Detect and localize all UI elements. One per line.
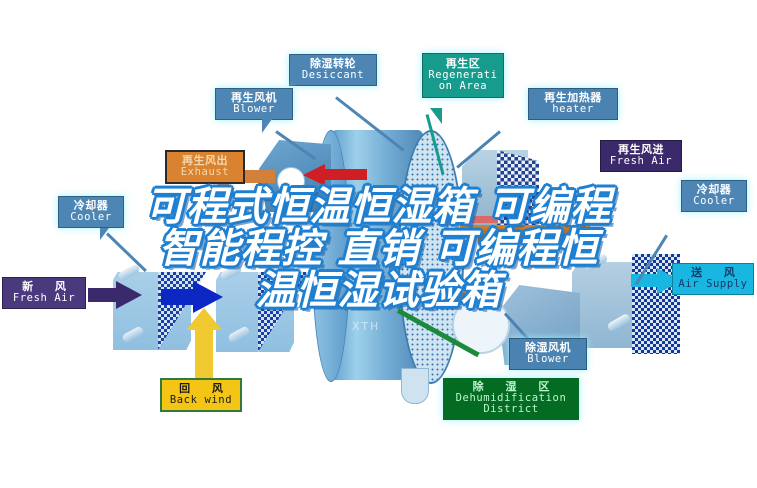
label-fresh-air-en: Fresh Air — [8, 293, 80, 304]
label-cooler-right-en: Cooler — [687, 196, 741, 207]
label-regeneration-heater-en: heater — [534, 104, 612, 115]
label-cooler-left[interactable]: 冷却器 Cooler — [58, 196, 124, 228]
label-cooler-left-tail — [100, 228, 109, 240]
label-exhaust[interactable]: 再生风出 Exhaust — [165, 150, 245, 184]
label-regeneration-area-en2: on Area — [428, 81, 498, 92]
label-dehumidification-district[interactable]: 除 湿 区 Dehumidification District — [443, 378, 579, 420]
label-fresh-air[interactable]: 新 风 Fresh Air — [2, 277, 86, 309]
regeneration-duct-base2 — [478, 236, 573, 244]
leader-cooler-left — [106, 232, 147, 272]
label-back-wind-en: Back wind — [167, 395, 235, 406]
label-regeneration-blower-en: Blower — [221, 104, 287, 115]
watermark-text: XTH — [352, 320, 380, 333]
label-cooler-right[interactable]: 冷却器 Cooler — [681, 180, 747, 212]
desiccant-wheel-face — [398, 130, 464, 384]
label-dehumidification-district-en2: District — [448, 404, 574, 415]
label-dehumidification-blower-en: Blower — [515, 354, 581, 365]
label-desiccant-wheel-en: Desiccant — [295, 70, 371, 81]
regeneration-heater-mesh — [497, 150, 539, 228]
label-cooler-left-en: Cooler — [64, 212, 118, 223]
label-regeneration-air-inlet-en: Fresh Air — [606, 156, 676, 167]
label-desiccant-wheel[interactable]: 除湿转轮 Desiccant — [289, 54, 377, 86]
label-regeneration-heater[interactable]: 再生加热器 heater — [528, 88, 618, 120]
label-air-supply-en: Air Supply — [678, 279, 748, 290]
label-regeneration-area[interactable]: 再生区 Regenerati on Area — [422, 53, 504, 98]
label-air-supply[interactable]: 送 风 Air Supply — [672, 263, 754, 295]
label-dehumidification-blower[interactable]: 除湿风机 Blower — [509, 338, 587, 370]
regeneration-blower-inlet — [277, 167, 305, 195]
label-regeneration-area-tail — [430, 108, 442, 124]
diagram-canvas: XTH — [0, 0, 757, 488]
label-back-wind[interactable]: 回 风 Back wind — [160, 378, 242, 412]
label-exhaust-en: Exhaust — [172, 167, 238, 178]
label-regeneration-air-inlet[interactable]: 再生风进 Fresh Air — [600, 140, 682, 172]
label-regeneration-blower[interactable]: 再生风机 Blower — [215, 88, 293, 120]
regeneration-duct-base — [460, 225, 590, 236]
condensate-shape — [401, 368, 429, 404]
label-regeneration-blower-tail — [262, 119, 272, 133]
